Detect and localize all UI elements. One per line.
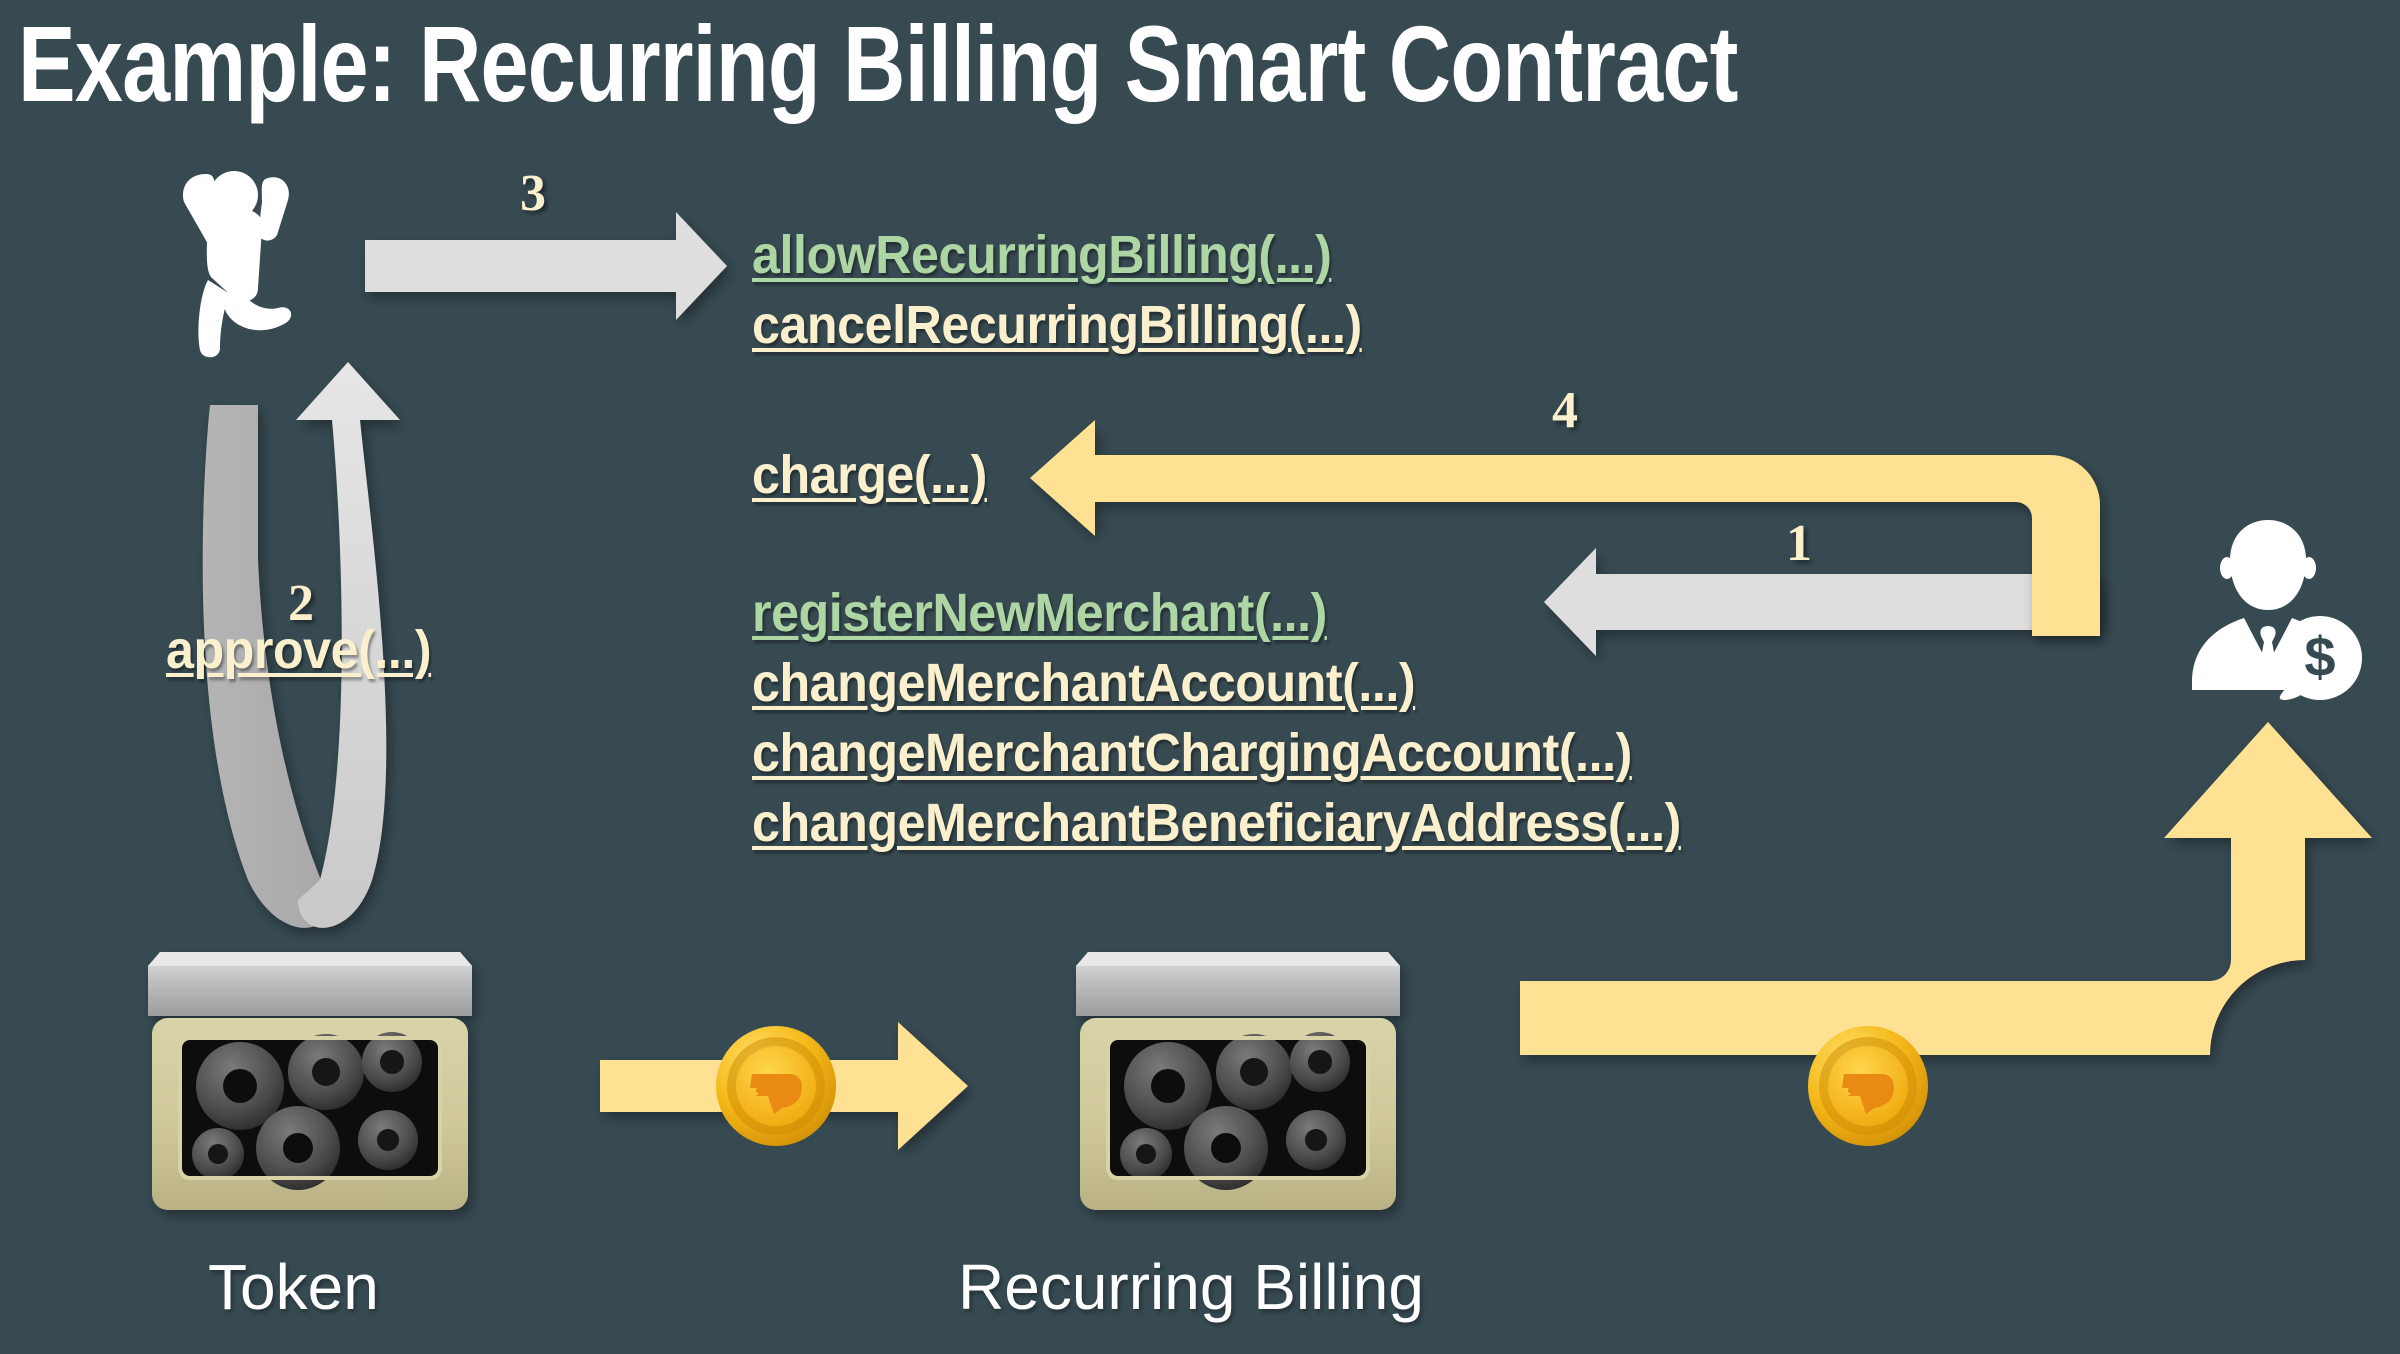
function-group-merchant-management: registerNewMerchant(...) changeMerchantA… (752, 578, 1751, 858)
user-right-arm (258, 177, 289, 240)
dollar-sign-icon: $ (2304, 625, 2335, 688)
billing-gears-icon (1120, 1032, 1350, 1190)
merchant-ear-left (2220, 557, 2234, 579)
gold-coin-icon-token-to-billing (712, 1022, 840, 1150)
function-allow-recurring-billing[interactable]: allowRecurringBilling(...) (752, 220, 1362, 290)
node-label-recurring-billing: Recurring Billing (958, 1250, 1424, 1324)
slide-canvas: Example: Recurring Billing Smart Contrac… (0, 0, 2400, 1354)
node-icon-recurring-billing (1058, 910, 1418, 1230)
step-number-3: 3 (520, 168, 546, 220)
function-change-merchant-account[interactable]: changeMerchantAccount(...) (752, 648, 1681, 718)
function-charge[interactable]: charge(...) (752, 440, 987, 510)
step-number-4: 4 (1552, 385, 1578, 437)
function-register-new-merchant[interactable]: registerNewMerchant(...) (752, 578, 1681, 648)
user-right-leg (224, 287, 291, 330)
merchant-head (2230, 520, 2306, 610)
function-change-merchant-charging-account[interactable]: changeMerchantChargingAccount(...) (752, 718, 1681, 788)
user-left-leg (198, 280, 230, 357)
node-icon-token (130, 910, 490, 1230)
function-cancel-recurring-billing[interactable]: cancelRecurringBilling(...) (752, 290, 1362, 360)
function-group-billing-permissions: allowRecurringBilling(...) cancelRecurri… (752, 220, 1408, 360)
arrow-step-3 (365, 212, 727, 320)
gold-coin-icon-billing-to-merchant (1804, 1022, 1932, 1150)
page-title: Example: Recurring Billing Smart Contrac… (18, 6, 1738, 123)
step-number-1: 1 (1786, 518, 1812, 570)
token-gears-icon (192, 1032, 422, 1190)
function-change-merchant-beneficiary-address[interactable]: changeMerchantBeneficiaryAddress(...) (752, 788, 1681, 858)
step-number-2: 2 (288, 578, 314, 630)
user-jumping-figure (150, 160, 320, 360)
function-group-charging: charge(...) (752, 440, 1005, 510)
node-label-token: Token (208, 1250, 379, 1324)
merchant-ear-right (2302, 557, 2316, 579)
merchant-businessman: $ (2168, 512, 2368, 702)
